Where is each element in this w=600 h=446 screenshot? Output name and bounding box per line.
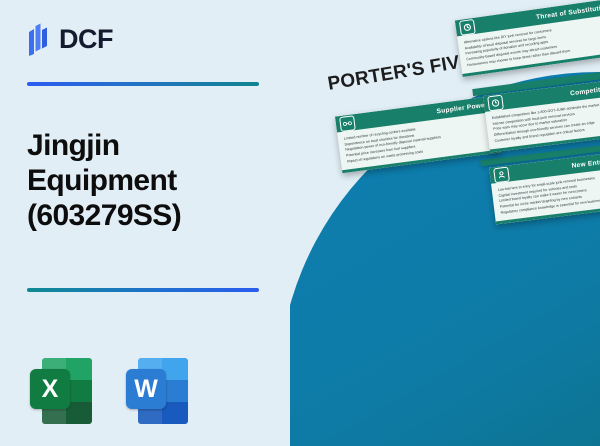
excel-file-icon[interactable]: X xyxy=(30,355,92,427)
brand-logo[interactable]: DCF xyxy=(26,22,113,56)
brand-name: DCF xyxy=(59,26,113,53)
download-icons: X W xyxy=(30,355,188,427)
company-name-line-2: Equipment xyxy=(27,163,289,198)
porter-diagram: PORTER'S FIVE FORCES ANALYSIS Supplier P… xyxy=(290,0,600,446)
company-ticker: (603279SS) xyxy=(27,198,289,233)
divider-top xyxy=(27,82,259,86)
link-icon xyxy=(339,115,356,132)
company-name-line-1: Jingjin xyxy=(27,128,289,163)
force-card-threat-of-substitution[interactable]: Threat of Substitution Alternative optio… xyxy=(455,0,600,77)
excel-badge-label: X xyxy=(30,369,70,409)
bar-chart-logo-icon xyxy=(26,22,52,56)
recycle-icon xyxy=(459,18,476,35)
person-icon xyxy=(493,166,510,183)
word-file-icon[interactable]: W xyxy=(126,355,188,427)
word-badge-label: W xyxy=(126,369,166,409)
clock-icon xyxy=(487,94,504,111)
divider-bottom xyxy=(27,288,259,292)
poster-page: DCF Jingjin Equipment (603279SS) X W POR… xyxy=(0,0,600,446)
page-title: Jingjin Equipment (603279SS) xyxy=(27,128,289,233)
